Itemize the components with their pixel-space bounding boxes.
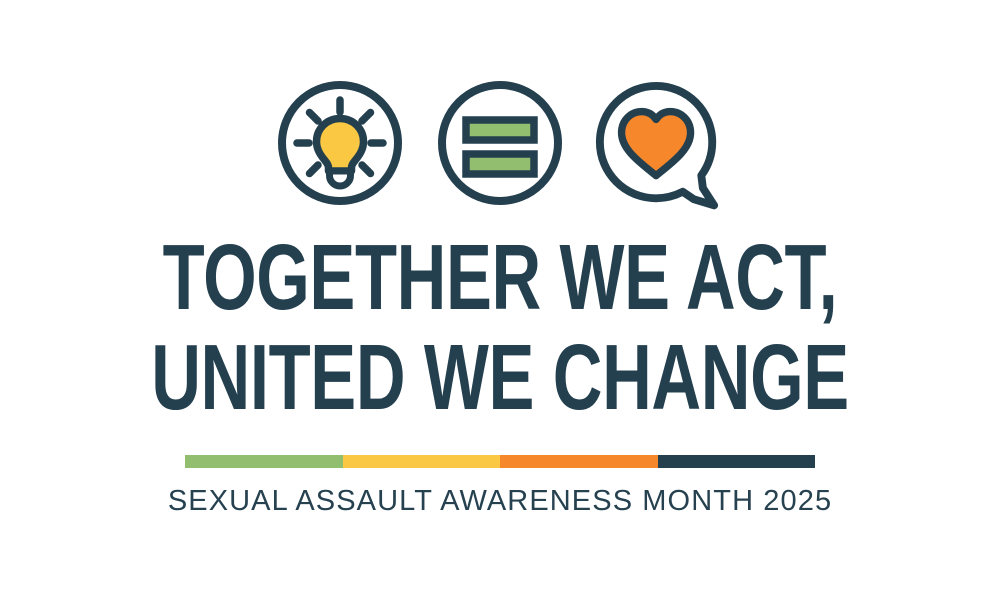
color-bar: [185, 455, 815, 468]
color-bar-segment-orange: [500, 455, 658, 468]
headline-line-2: UNITED WE CHANGE: [130, 327, 870, 427]
color-bar-segment-green: [185, 455, 343, 468]
headline-line-1: TOGETHER WE ACT,: [130, 227, 870, 327]
icon-row: [0, 76, 1000, 226]
color-bar-segment-yellow: [343, 455, 501, 468]
headline: TOGETHER WE ACT, UNITED WE CHANGE: [0, 227, 1000, 427]
lightbulb-icon: [271, 76, 409, 226]
poster-canvas: TOGETHER WE ACT, UNITED WE CHANGE SEXUAL…: [0, 0, 1000, 600]
equals-icon: [431, 76, 569, 226]
tagline-text: SEXUAL ASSAULT AWARENESS MONTH 2025: [168, 484, 832, 518]
heart-speech-bubble-icon: [591, 76, 729, 226]
tagline: SEXUAL ASSAULT AWARENESS MONTH 2025: [0, 484, 1000, 518]
color-bar-segment-navy: [658, 455, 816, 468]
